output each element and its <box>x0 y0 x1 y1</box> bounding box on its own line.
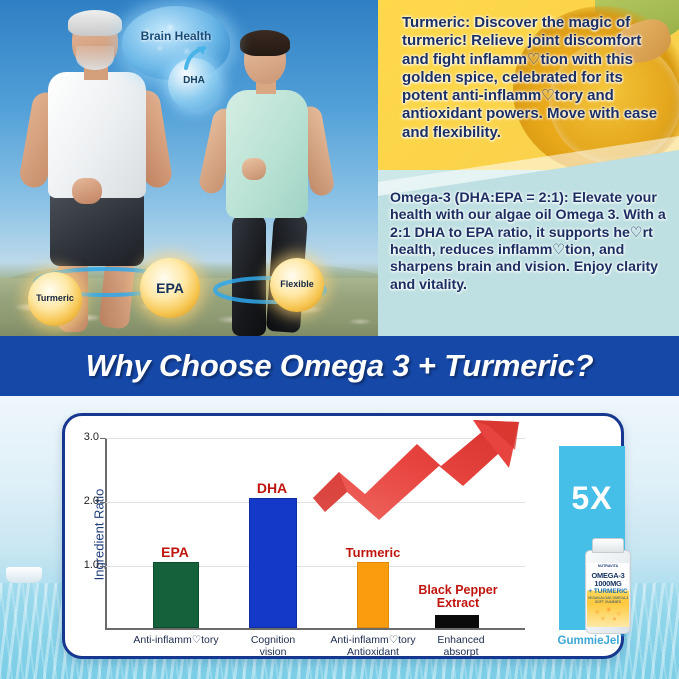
x-label-black-pepper: Enhanced absorpt <box>423 634 499 659</box>
lifestyle-photo: Brain Health DHA Turmeric EPA Flexible <box>0 0 400 336</box>
bottle-line-2: 1000MG <box>587 579 629 588</box>
bottle-line-3: + TURMERIC <box>587 588 629 595</box>
chart-section: Ingredient Ratio 3.0 2.0 1.0 EPA DHA <box>0 396 679 679</box>
bottle-body: NUTRAVITA OMEGA-3 1000MG + TURMERIC VEGA… <box>585 550 631 634</box>
bottle-label: NUTRAVITA OMEGA-3 1000MG + TURMERIC VEGA… <box>587 563 629 627</box>
bar-turmeric <box>357 562 389 628</box>
boat-icon <box>6 567 42 583</box>
headline-banner: Why Choose Omega 3 + Turmeric? <box>0 336 679 396</box>
bar-label-black-pepper-extract: Black Pepper Extract <box>411 584 505 610</box>
badge-epa-label: EPA <box>156 281 184 296</box>
headline-text: Why Choose Omega 3 + Turmeric? <box>86 348 594 384</box>
product-bottle: NUTRAVITA OMEGA-3 1000MG + TURMERIC VEGA… <box>583 538 631 632</box>
x-label-dha: Cognition vision <box>231 634 315 659</box>
growth-arrow-icon <box>313 420 543 532</box>
y-tick-2: 2.0 <box>71 495 99 507</box>
badge-epa: EPA <box>140 258 200 318</box>
y-axis-line <box>105 438 107 630</box>
bar-label-5x: 5X <box>559 480 625 517</box>
y-tick-3: 3.0 <box>71 431 99 443</box>
bar-label-turmeric: Turmeric <box>333 546 413 560</box>
dha-label: DHA <box>168 75 220 86</box>
chart-card: Ingredient Ratio 3.0 2.0 1.0 EPA DHA <box>62 413 624 659</box>
turmeric-panel-text: Turmeric: Discover the magic of turmeric… <box>402 14 664 142</box>
y-tick-1: 1.0 <box>71 559 99 571</box>
bar-label-epa: EPA <box>139 545 211 560</box>
infographic-page: Brain Health DHA Turmeric EPA Flexible <box>0 0 679 679</box>
x-label-turmeric: Anti-inflamm♡tory Antioxidant <box>319 634 427 659</box>
bottle-brand: NUTRAVITA <box>587 564 629 568</box>
hero-section: Brain Health DHA Turmeric EPA Flexible <box>0 0 679 336</box>
badge-turmeric: Turmeric <box>28 272 82 326</box>
y-axis-label: Ingredient Ratio <box>53 434 145 634</box>
x-label-gummiejel: GummieJel™ <box>551 634 633 647</box>
bottle-cap <box>592 538 624 553</box>
badge-flexible-label: Flexible <box>280 280 314 289</box>
dha-arrow-icon <box>182 44 208 70</box>
brain-health-label: Brain Health <box>122 29 230 43</box>
gummies-graphic <box>590 603 626 625</box>
bar-label-dha: DHA <box>233 481 311 496</box>
bar-black-pepper-extract <box>435 615 479 628</box>
omega3-panel-text: Omega-3 (DHA:EPA = 2:1): Elevate your he… <box>390 190 678 294</box>
info-panels: Turmeric: Discover the magic of turmeric… <box>378 0 679 336</box>
x-label-epa: Anti-inflamm♡tory <box>123 634 229 646</box>
badge-flexible: Flexible <box>270 258 324 312</box>
x-axis-line <box>105 628 525 630</box>
bar-epa <box>153 562 199 628</box>
bar-dha <box>249 498 297 628</box>
badge-turmeric-label: Turmeric <box>36 294 74 303</box>
